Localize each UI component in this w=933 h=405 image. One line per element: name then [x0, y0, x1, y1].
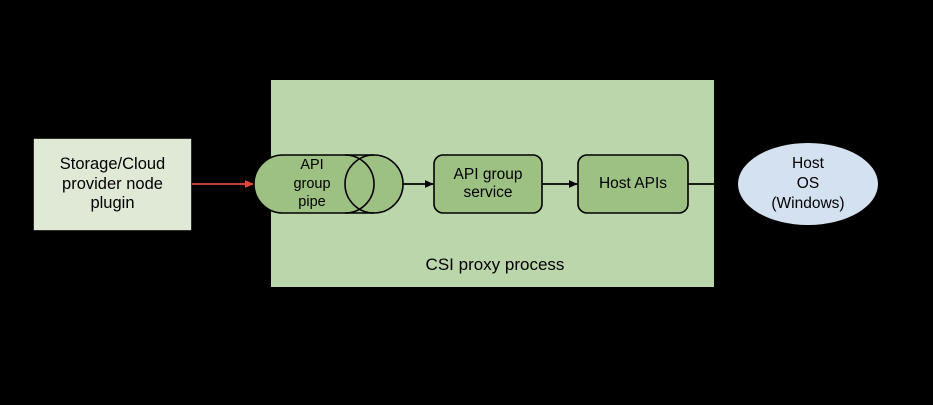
api-group-pipe-shape[interactable]: [254, 155, 403, 213]
api-group-service-box[interactable]: [434, 155, 542, 213]
storage-cloud-provider-node-plugin-box[interactable]: [33, 138, 192, 231]
host-os-ellipse[interactable]: [738, 143, 878, 225]
diagram-canvas: [0, 0, 933, 405]
host-apis-box[interactable]: [578, 155, 688, 213]
